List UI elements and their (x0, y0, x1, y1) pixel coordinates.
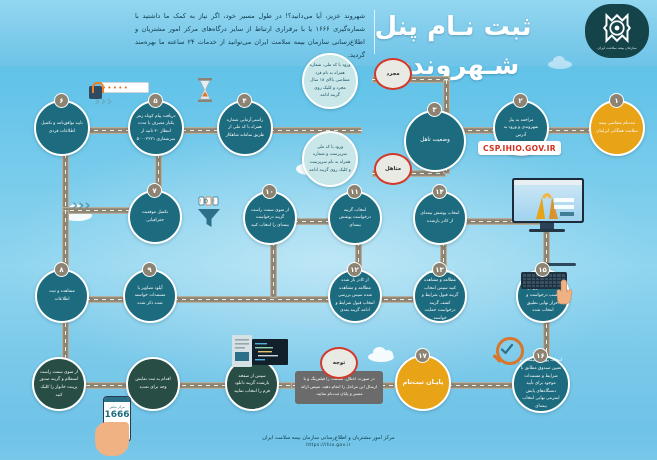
hotline-phone-illustration: مرکز تماس 1666 (95, 396, 165, 460)
svg-text:!: ! (199, 199, 201, 205)
password-field-illustration: ••••• (89, 82, 149, 100)
cloud-3 (368, 352, 394, 362)
marital-married-badge[interactable]: متاهل (374, 153, 412, 185)
step-node-11-label: انتخاب گزینه درخواست پوشش بیمه‌ای (335, 207, 375, 230)
step-node-6[interactable]: تایید توافق‌نامه و تکمیل اطلاعات فردی (34, 100, 90, 156)
header-divider (374, 10, 375, 54)
marital-single-badge[interactable]: مجرد (374, 58, 412, 90)
step-node-17[interactable]: پایـان ثبت‌نام (395, 355, 451, 411)
bottom-node-3-label: سپس از صفحه بازشده گزینه دانلود فرم را ا… (232, 373, 272, 396)
step-number-17: ۱۷ (415, 348, 430, 363)
step-number-10: ۱۰ (262, 184, 277, 199)
footer-org-text: مرکز امور مشتریان و اطلاع‌رسانی سازمان ب… (0, 435, 657, 441)
step-node-8[interactable]: مشاهده و ثبت اطلاعات (35, 269, 89, 323)
hotline-number: 1666 (104, 410, 130, 420)
direction-chevron-2: ‹‹‹ (72, 196, 91, 214)
step-number-2: ۲ (513, 93, 528, 108)
step-node-8-label: مشاهده و ثبت اطلاعات (42, 288, 82, 303)
website-badge[interactable]: CSP.IHIO.GOV.IR (478, 141, 561, 155)
step-node-7-label: تکمیل موقعیت جغرافیایی (135, 209, 175, 224)
padlock-icon (89, 86, 102, 99)
branch-node-married-label: ورود با کد ملی سرپرست و شماره همراه به ن… (309, 144, 351, 175)
step-node-9[interactable]: آپلود تصاویر یا مستندات خواسته شده ذکر ش… (123, 269, 177, 323)
password-dots-icon: ••••• (102, 84, 129, 92)
step-number-15: ۱۵ (535, 262, 550, 277)
page-title: ثبت نـام پنل شـهروندی (329, 8, 577, 86)
step-node-13-label: از کادر باز شده مطالعه و مشاهده کنید سپس… (420, 269, 460, 322)
footer: مرکز امور مشتریان و اطلاع‌رسانی سازمان ب… (0, 435, 657, 448)
branch-node-married[interactable]: ورود با کد ملی سرپرست و شماره همراه به ن… (302, 131, 358, 187)
step-node-14-label: انتخاب پوشش بیمه‌ای از کادر بازشده (420, 210, 460, 225)
step-node-16[interactable]: انتخاب پوشش بیمه‌ای و تعیین صندوق مطابق … (512, 355, 570, 413)
bottom-node-1-label: از منوی سمت راست استعلام و گزینه صدور پر… (39, 369, 79, 400)
monitor-screen (512, 178, 584, 223)
step-number-8: ۸ (54, 262, 69, 277)
step-node-3[interactable]: وضعیت تاهل (404, 110, 466, 172)
monitor-base (529, 229, 565, 232)
step-number-9: ۹ (142, 262, 157, 277)
pointing-hand-icon (556, 278, 576, 310)
footer-url[interactable]: https://ihio.gov.ir (0, 443, 657, 448)
monitor-illustration (512, 178, 586, 234)
svg-text:D: D (204, 199, 208, 205)
document-illustration (232, 335, 252, 367)
browser-page-graphic (514, 180, 582, 221)
password-input-graphic: ••••• (101, 82, 149, 93)
padlock-shackle-icon (92, 82, 104, 93)
step-number-11: ۱۱ (347, 184, 362, 199)
step-node-10[interactable]: از منوی سمت راست گزینه درخواست بیمه‌ای ر… (243, 191, 297, 245)
hourglass-icon (196, 78, 214, 106)
step-node-12-label: از کادر باز شده مطالعه و مشاهده شده سپس … (335, 277, 375, 315)
step-node-11[interactable]: انتخاب گزینه درخواست پوشش بیمه‌ای (328, 191, 382, 245)
svg-text:!: ! (213, 199, 215, 205)
step-node-5-label: دریافت پیام کوتاه رمز یکبار مصرف با مدت … (135, 113, 177, 144)
step-node-13[interactable]: از کادر باز شده مطالعه و مشاهده کنید سپس… (413, 269, 467, 323)
step-number-14: ۱۴ (432, 184, 447, 199)
step-node-5[interactable]: دریافت پیام کوتاه رمز یکبار مصرف با مدت … (128, 100, 184, 156)
step-number-7: ۷ (147, 183, 162, 198)
infographic-canvas: سازمان بیمه سلامت ایران ثبت نـام پنل شـه… (0, 0, 657, 460)
phone-caption: مرکز تماس (104, 405, 130, 409)
step-node-16-label: انتخاب پوشش بیمه‌ای و تعیین صندوق مطابق … (519, 357, 563, 410)
bottom-node-1[interactable]: از منوی سمت راست استعلام و گزینه صدور پر… (32, 357, 86, 411)
logo-caption: سازمان بیمه سلامت ایران (597, 46, 636, 50)
step-node-1[interactable]: ثبت‌نام متقاضی بیمه سلامت همگانی ایرانیا… (589, 100, 645, 156)
step-number-1: ۱ (609, 93, 624, 108)
organization-logo: سازمان بیمه سلامت ایران (585, 4, 649, 58)
funnel-filter-icon: ! D ! (196, 196, 222, 234)
step-node-6-label: تایید توافق‌نامه و تکمیل اطلاعات فردی (41, 120, 83, 135)
step-number-6: ۶ (54, 93, 69, 108)
step-node-9-label: آپلود تصاویر یا مستندات خواسته شده ذکر ش… (130, 285, 170, 308)
step-node-3-label: وضعیت تاهل (420, 136, 450, 146)
step-number-13: ۱۳ (432, 262, 447, 277)
step-node-14[interactable]: انتخاب پوشش بیمه‌ای از کادر بازشده (413, 191, 467, 245)
step-number-4: ۴ (237, 93, 252, 108)
step-node-4[interactable]: راستی‌آزمایی شماره همراه با کد ملی از طر… (217, 100, 273, 156)
step-number-5: ۵ (148, 93, 163, 108)
road-row3 (62, 296, 352, 303)
step-node-1-label: ثبت‌نام متقاضی بیمه سلامت همگانی ایرانیا… (596, 120, 638, 135)
step-number-3: ۳ (427, 102, 442, 117)
code-panel-illustration (252, 339, 288, 365)
branch-node-single[interactable]: ورود با کد ملی، شماره همراه به نام فرد م… (302, 53, 358, 109)
bottom-node-2-label: اقدام به ثبت نمایش وجه برای تمدید (133, 376, 173, 391)
step-node-12[interactable]: از کادر باز شده مطالعه و مشاهده شده سپس … (328, 269, 382, 323)
step-number-16: ۱۶ (533, 348, 548, 363)
step-node-7[interactable]: تکمیل موقعیت جغرافیایی (128, 190, 182, 244)
step-node-17-label: پایـان ثبت‌نام (403, 377, 444, 388)
branch-node-single-label: ورود با کد ملی، شماره همراه به نام فرد م… (309, 62, 351, 100)
attention-badge[interactable]: توجه (320, 347, 358, 379)
step-number-12: ۱۲ (347, 262, 362, 277)
step-node-4-label: راستی‌آزمایی شماره همراه با کد ملی از طر… (224, 117, 266, 140)
geometric-star-logo-icon (602, 13, 632, 43)
magnifier-check-icon (500, 341, 514, 360)
step-node-10-label: از منوی سمت راست گزینه درخواست بیمه‌ای ر… (250, 207, 290, 230)
step-node-2-label: مراجعه به پنل شهروندی و ورود به آدرس (500, 117, 542, 140)
